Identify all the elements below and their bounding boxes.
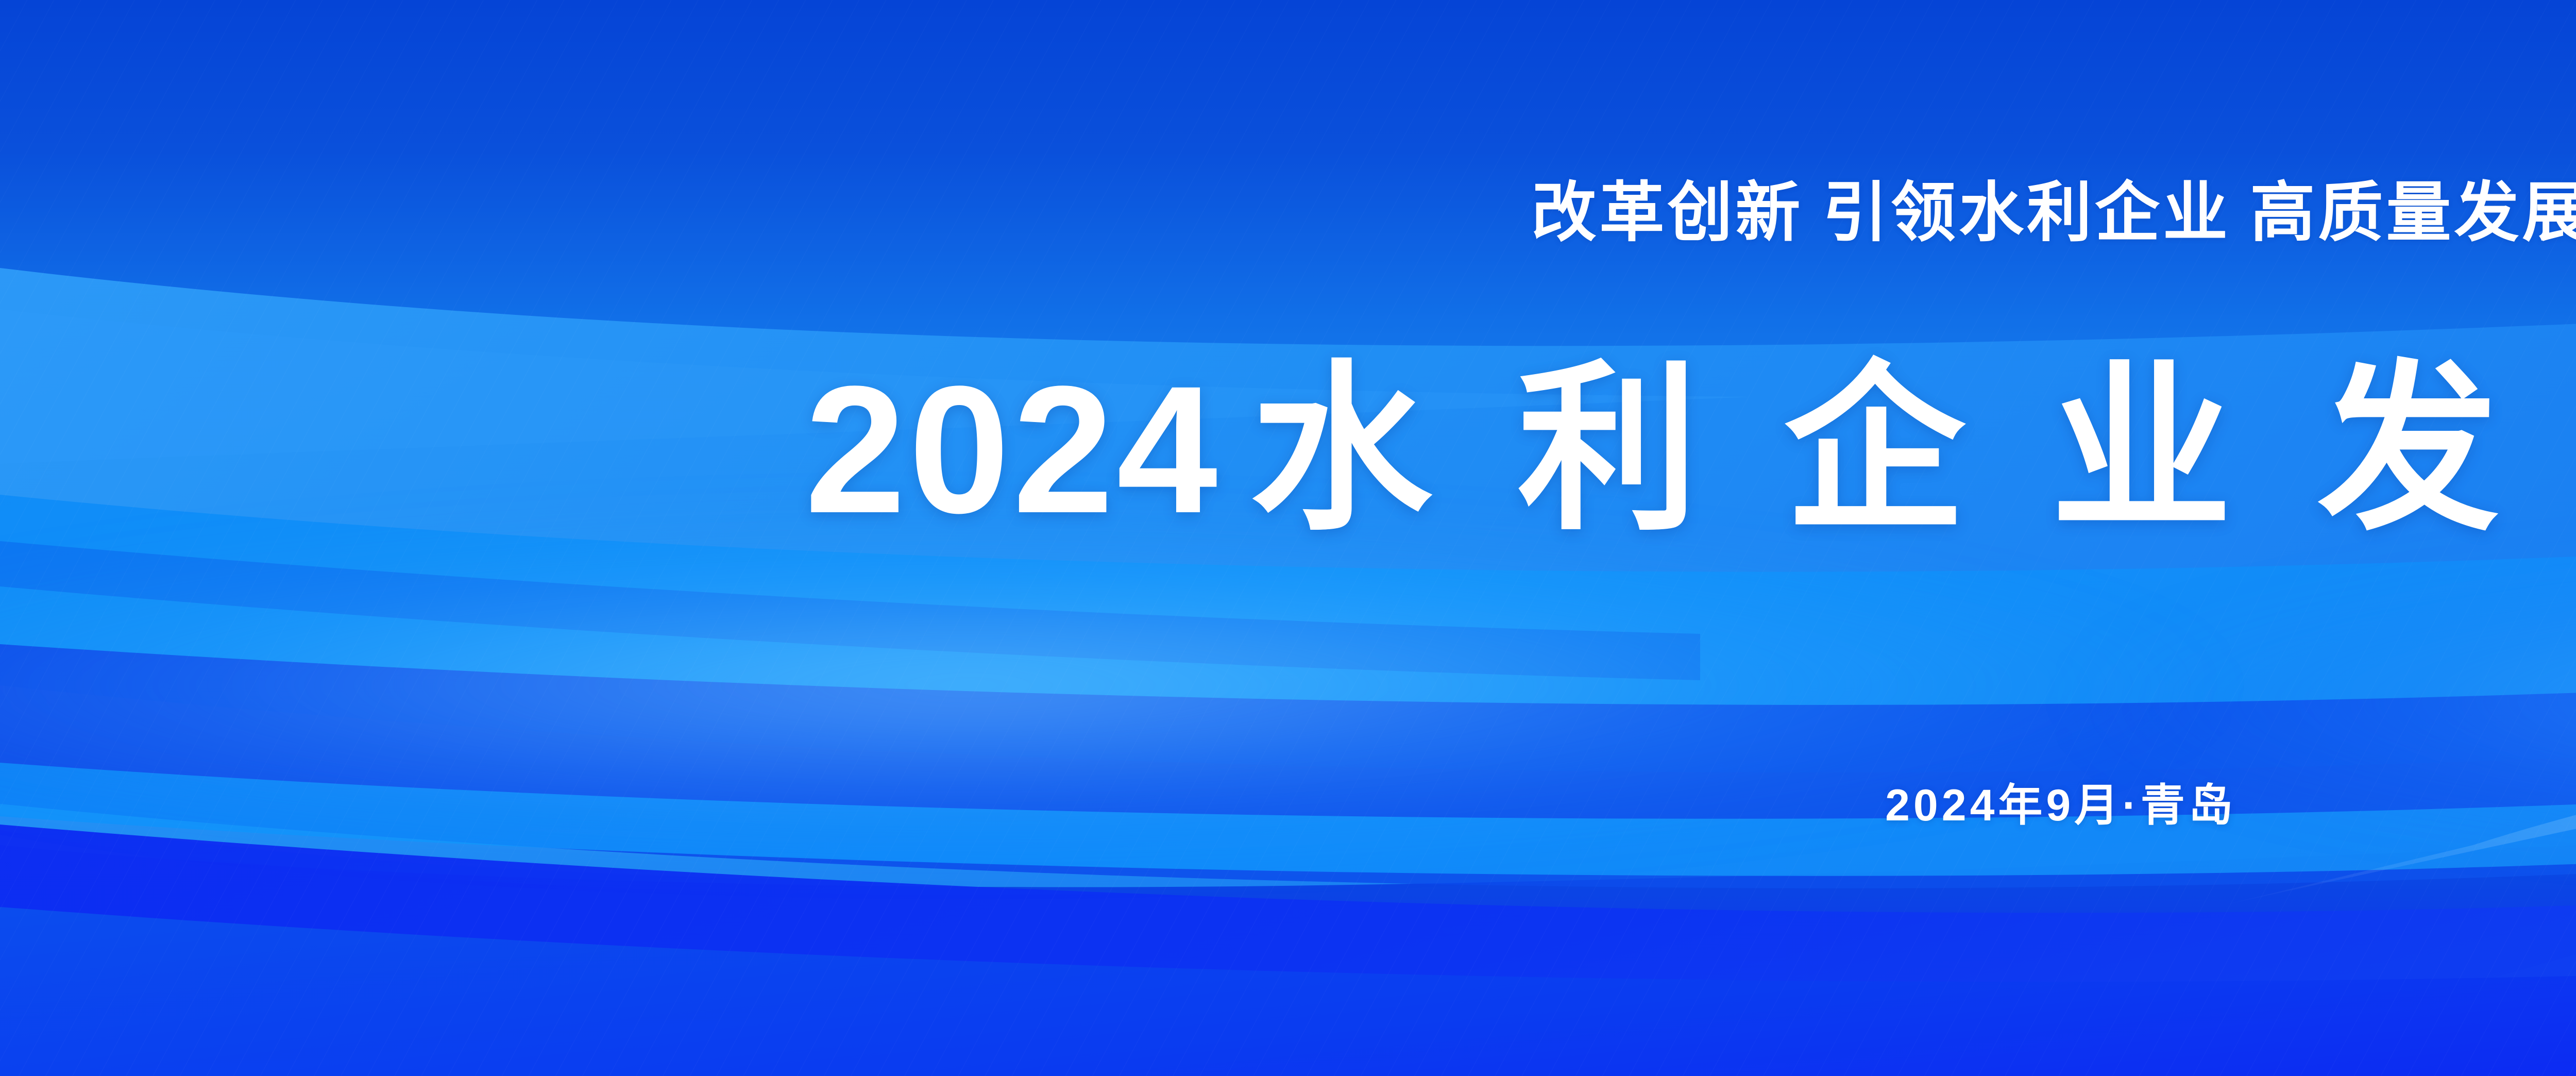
banner-content: 改革创新 引领水利企业 高质量发展 2024水 利 企 业 发 展 论 坛 20… (0, 0, 2576, 1076)
banner-title-year: 2024 (805, 348, 1221, 551)
conference-banner: 改革创新 引领水利企业 高质量发展 2024水 利 企 业 发 展 论 坛 20… (0, 0, 2576, 1076)
banner-title-main: 水 利 企 业 发 展 论 坛 (1250, 348, 2576, 551)
banner-title: 2024水 利 企 业 发 展 论 坛 (0, 330, 2576, 569)
banner-date-location: 2024年9月·青岛 (0, 783, 2576, 828)
banner-tagline: 改革创新 引领水利企业 高质量发展 (0, 181, 2576, 246)
